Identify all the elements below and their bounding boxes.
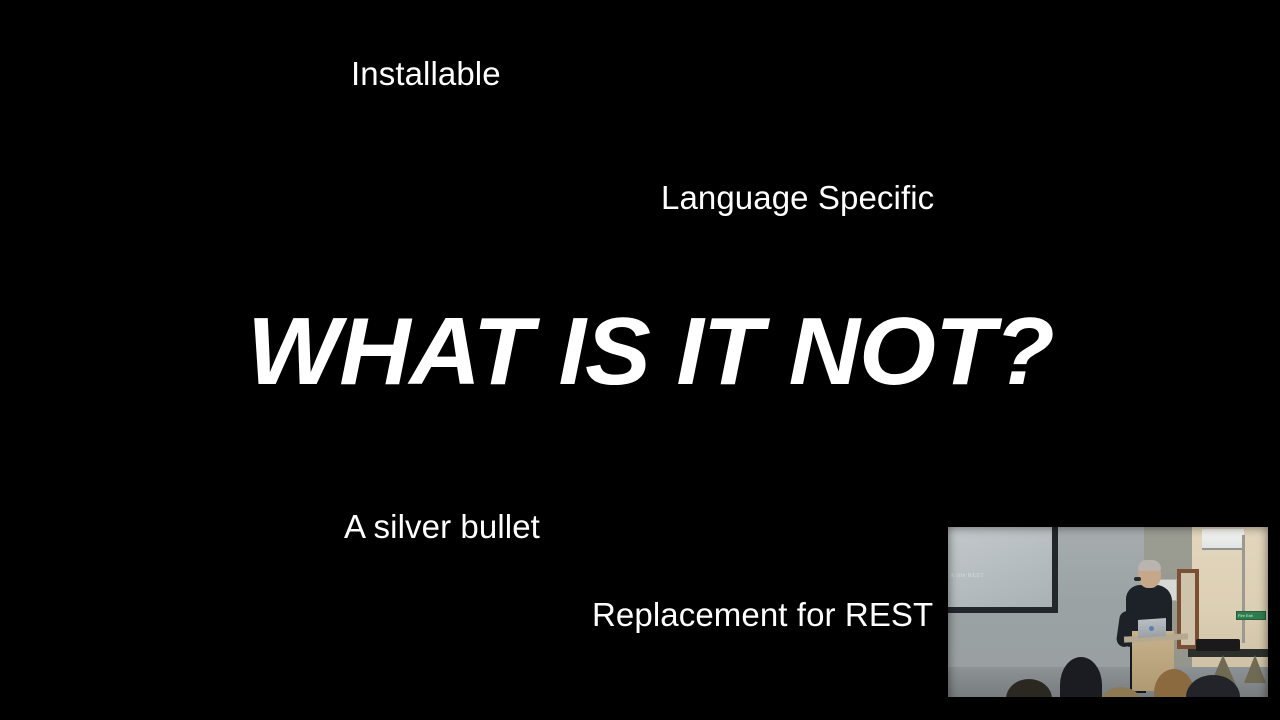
room-window [1202,529,1244,549]
slide-title: WHAT IS IT NOT? [247,304,1054,400]
exit-sign-text: Fire Exit [1238,613,1264,618]
projector-screen-text: A life REST [950,573,1008,579]
room-window-frame [1202,548,1244,550]
slide-point-replacement-for-rest: Replacement for REST [592,598,933,631]
room-pole [1242,535,1245,643]
slide-point-language-specific: Language Specific [661,181,934,214]
slide-point-silver-bullet: A silver bullet [344,510,540,543]
slide-point-installable: Installable [351,57,501,90]
speaker-video-overlay[interactable]: A life REST Fire Exit [948,527,1268,709]
presentation-slide: Installable Language Specific WHAT IS IT… [0,0,1280,720]
speaker-hair [1138,560,1161,571]
laptop-logo-icon [1149,626,1154,631]
projector-screen [948,527,1052,607]
headset-microphone-icon [1134,577,1141,581]
video-letterbox-band [948,697,1268,709]
camera-rig [1196,639,1240,651]
